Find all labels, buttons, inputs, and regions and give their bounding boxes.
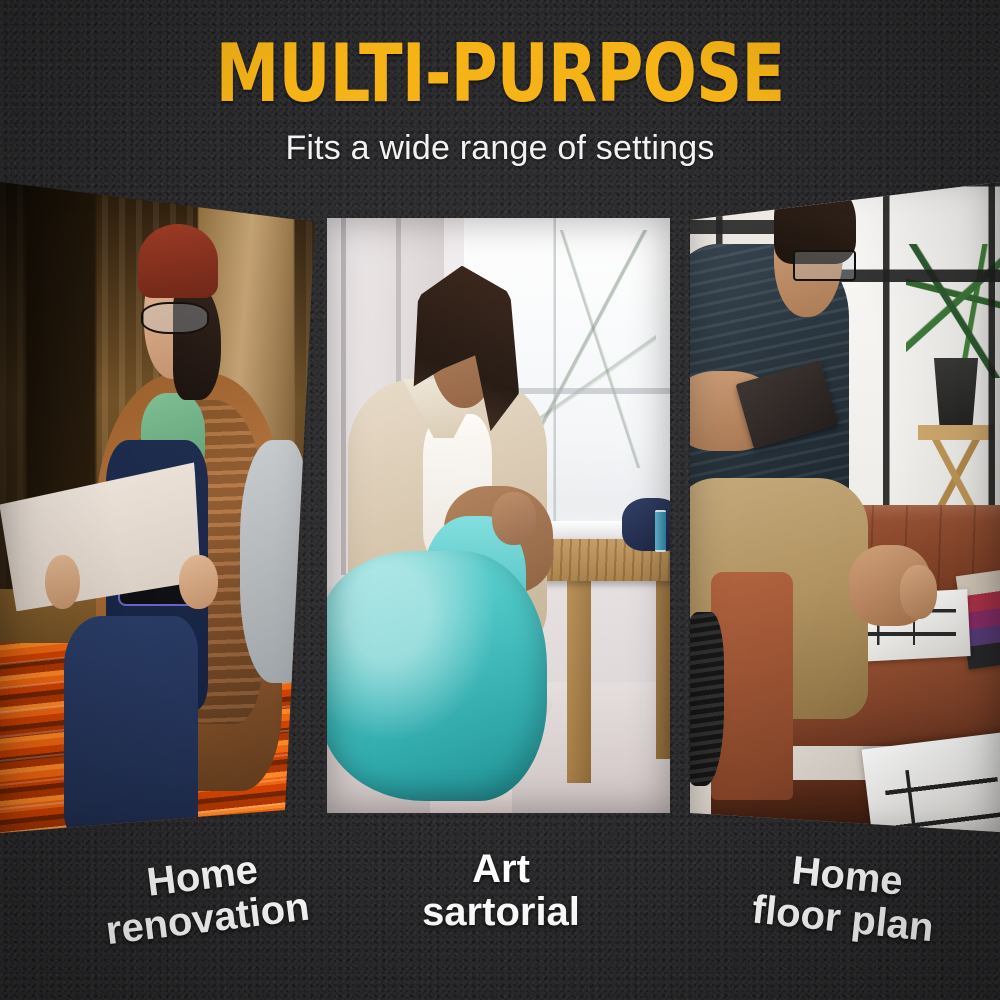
foreground-drawing-lines — [883, 760, 1000, 840]
photo-panel-home-renovation — [0, 170, 320, 845]
thread-spool — [655, 510, 667, 553]
caption-art-sartorial: Art sartorial — [356, 848, 646, 934]
turquoise-fabric — [327, 551, 547, 801]
photo-home-floor-plan — [686, 170, 1000, 840]
photo-art-sartorial — [327, 218, 670, 813]
pointing-hand — [900, 565, 938, 619]
left-hand — [45, 555, 80, 609]
sewing-hand — [492, 492, 537, 546]
denim-legs — [64, 616, 198, 846]
caption-home-renovation: Home renovation — [56, 838, 354, 959]
coiled-cable — [686, 612, 724, 786]
photo-panel-art-sartorial — [327, 218, 670, 813]
table-leg-front — [567, 581, 591, 783]
photo-home-renovation — [0, 170, 320, 845]
page-title: MULTI-PURPOSE — [100, 34, 900, 114]
eyeglasses — [141, 302, 209, 334]
caption-home-floor-plan: Home floor plan — [696, 840, 993, 956]
page-subtitle: Fits a wide range of settings — [0, 128, 1000, 168]
wall-panel-line-1 — [341, 218, 346, 575]
shirt-sleeve — [240, 440, 310, 683]
red-beanie — [138, 224, 218, 298]
table-leg-back — [656, 581, 670, 760]
promo-banner: MULTI-PURPOSE Fits a wide range of setti… — [0, 0, 1000, 1000]
eyeglasses — [793, 250, 857, 281]
photo-panel-home-floor-plan — [686, 170, 1000, 840]
right-hand — [179, 555, 217, 609]
